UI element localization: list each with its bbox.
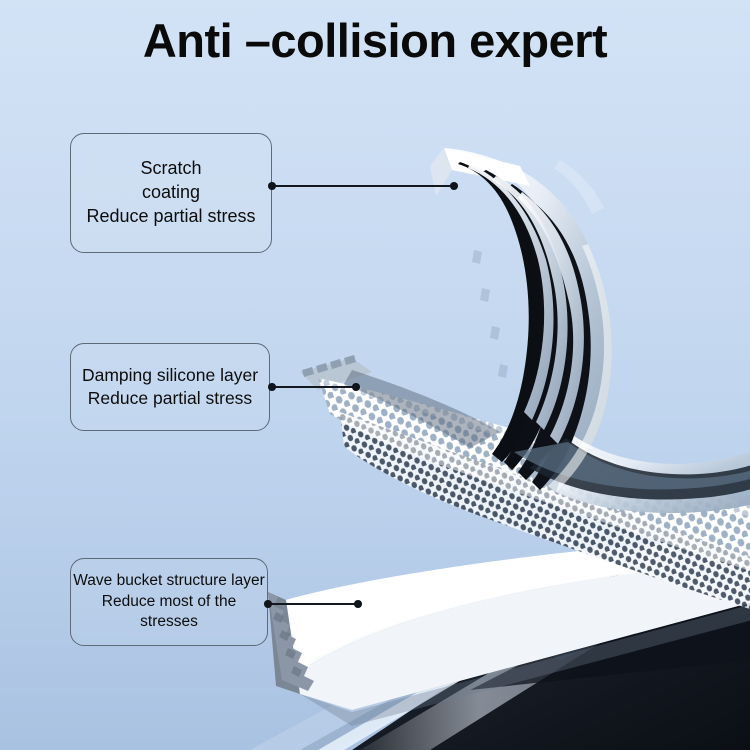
leader-line-bar xyxy=(272,386,356,388)
leader-dot-start xyxy=(268,383,276,391)
callout-1-line-1: Scratch xyxy=(140,158,201,178)
leader-dot-end xyxy=(354,600,362,608)
callout-2-line-2: Reduce partial stress xyxy=(88,388,252,408)
callout-damping-silicone-layer[interactable]: Damping silicone layer Reduce partial st… xyxy=(70,343,270,431)
callout-damping-silicone-layer-text: Damping silicone layer Reduce partial st… xyxy=(82,364,258,410)
callout-wave-bucket-structure-layer[interactable]: Wave bucket structure layer Reduce most … xyxy=(70,558,268,646)
callout-1-line-2: coating xyxy=(142,182,200,202)
callout-3-line-1: Wave bucket structure layer xyxy=(73,572,265,589)
leader-line-bar xyxy=(268,603,358,605)
leader-dot-end xyxy=(450,182,458,190)
callout-scratch-coating-text: Scratch coating Reduce partial stress xyxy=(86,157,255,228)
product-infographic: Anti –collision expert Scratch coating R… xyxy=(0,0,750,750)
leader-dot-start xyxy=(268,182,276,190)
leader-dot-start xyxy=(264,600,272,608)
callout-1-line-3: Reduce partial stress xyxy=(86,206,255,226)
leader-dot-end xyxy=(352,383,360,391)
leader-line-bar xyxy=(272,185,454,187)
callout-wave-bucket-structure-layer-text: Wave bucket structure layer Reduce most … xyxy=(71,571,267,632)
callout-scratch-coating[interactable]: Scratch coating Reduce partial stress xyxy=(70,133,272,253)
callout-3-line-2: Reduce most of the stresses xyxy=(102,593,236,630)
callout-2-line-1: Damping silicone layer xyxy=(82,365,258,385)
